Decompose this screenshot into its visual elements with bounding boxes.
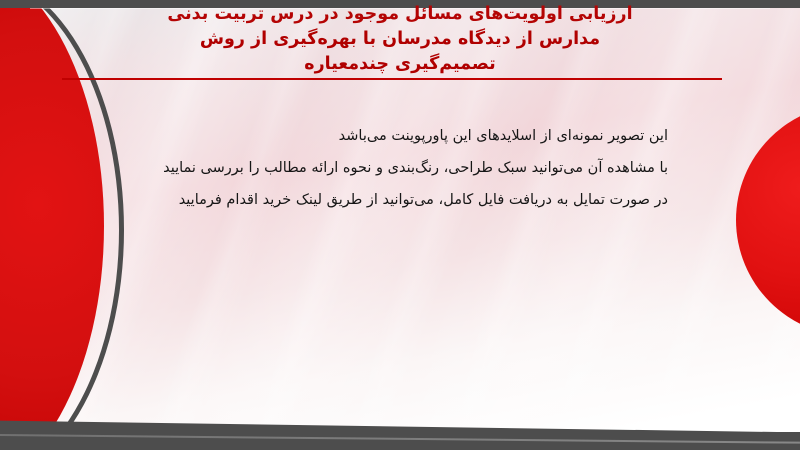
body-line-3: در صورت تمایل به دریافت فایل کامل، می‌تو… (148, 184, 668, 216)
slide-title: ارزیابی اولویت‌های مسائل موجود در درس تر… (40, 2, 760, 77)
body-line-2: با مشاهده آن می‌توانید سبک طراحی، رنگ‌بن… (148, 152, 668, 184)
title-underline-rule (62, 78, 722, 80)
slide-title-line-2: مدارس از دیدگاه مدرسان با بهره‌گیری از ر… (40, 27, 760, 52)
slide-title-line-3: تصمیم‌گیری چندمعیاره (40, 52, 760, 77)
slide-body-text: این تصویر نمونه‌ای از اسلایدهای این پاور… (148, 120, 668, 216)
presentation-slide: ارزیابی اولویت‌های مسائل موجود در درس تر… (0, 0, 800, 450)
slide-title-line-1: ارزیابی اولویت‌های مسائل موجود در درس تر… (40, 2, 760, 27)
body-line-1: این تصویر نمونه‌ای از اسلایدهای این پاور… (148, 120, 668, 152)
